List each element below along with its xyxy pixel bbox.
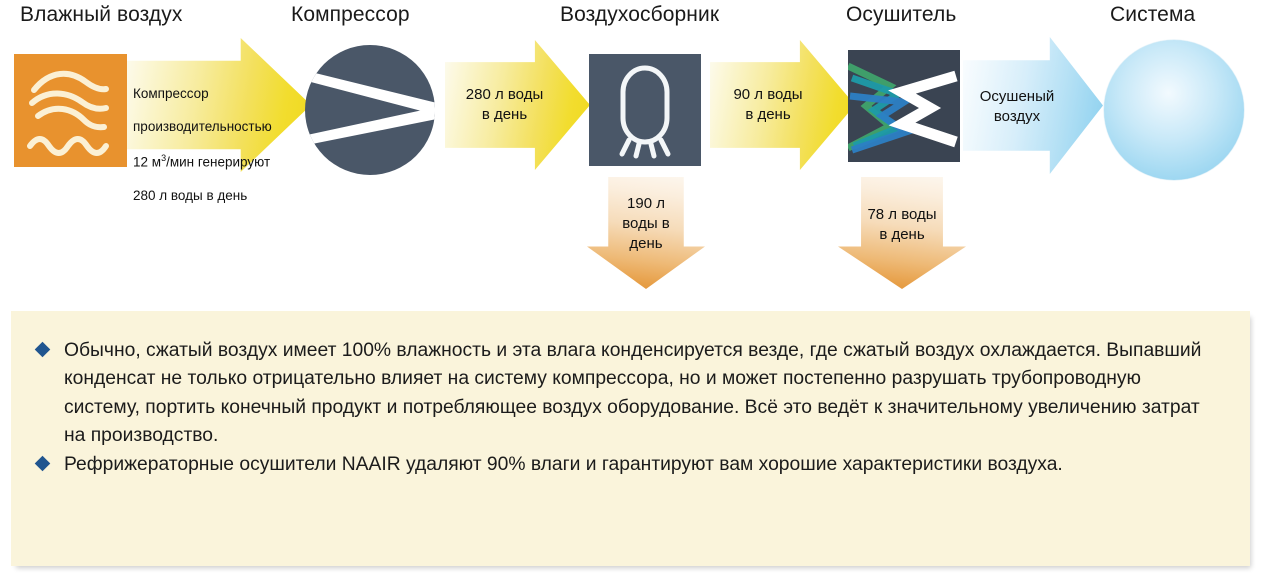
stage-title-compressor: Компрессор — [291, 3, 410, 27]
flow-arrow-1-line3-pre: 12 м — [133, 154, 161, 169]
stage-title-air-receiver: Воздухосборник — [560, 3, 719, 27]
humid-air-waves-icon — [14, 54, 127, 167]
system-sphere-icon — [1104, 40, 1244, 180]
compressor-circle-icon — [305, 45, 435, 175]
flow-arrow-3-label: 90 л воды в день — [712, 85, 824, 125]
flow-arrow-1-label: Компрессор производительностью 12 м3/мин… — [133, 69, 293, 204]
stage-title-humid-air: Влажный воздух — [20, 3, 182, 27]
stage-title-dryer: Осушитель — [846, 3, 956, 27]
flow-arrow-4-label: Осушеный воздух — [962, 87, 1072, 127]
diamond-bullet-icon — [35, 456, 51, 472]
flow-arrow-1-line4: 280 л воды в день — [133, 188, 247, 203]
flow-arrow-1-line1: Компрессор — [133, 86, 209, 101]
flow-arrow-2-label: 280 л воды в день — [447, 85, 562, 125]
flow-arrow-1-line2: производительностью — [133, 119, 272, 134]
drain-arrow-1-label: 190 л воды в день — [596, 194, 696, 253]
dryer-zigzag-icon — [848, 50, 960, 162]
air-receiver-tank-icon — [589, 54, 701, 166]
note-text: Обычно, сжатый воздух имеет 100% влажнос… — [64, 340, 1201, 446]
note-text: Рефрижераторные осушители NAAIR удаляют … — [64, 454, 1063, 475]
drain-arrow-2-label: 78 л воды в день — [846, 205, 958, 245]
list-item: Рефрижераторные осушители NAAIR удаляют … — [37, 451, 1216, 479]
stage-title-system: Система — [1110, 3, 1195, 27]
list-item: Обычно, сжатый воздух имеет 100% влажнос… — [37, 337, 1216, 450]
notes-panel: Обычно, сжатый воздух имеет 100% влажнос… — [11, 311, 1250, 566]
notes-list: Обычно, сжатый воздух имеет 100% влажнос… — [11, 311, 1250, 480]
diamond-bullet-icon — [35, 342, 51, 358]
flow-arrow-1-line3-post: /мин генерируют — [166, 154, 270, 169]
